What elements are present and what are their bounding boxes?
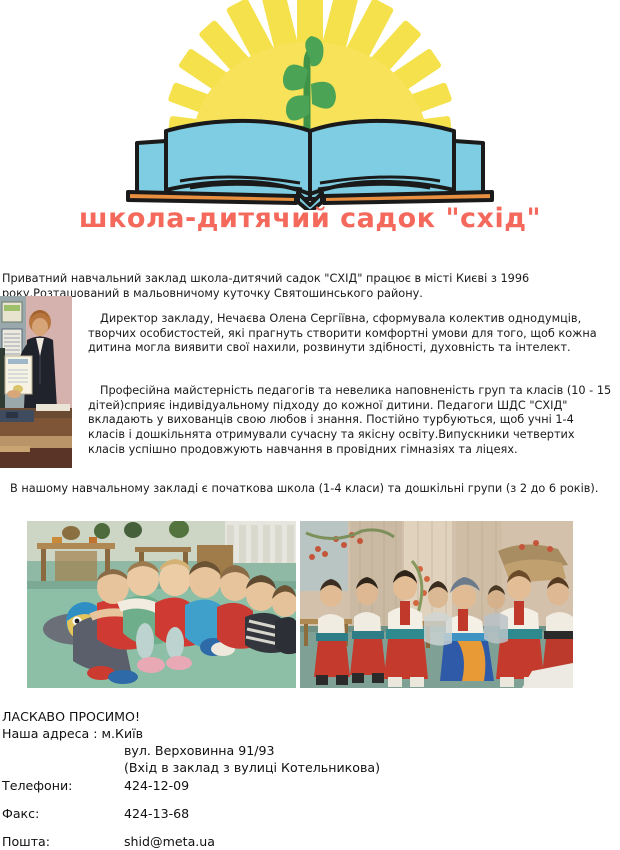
fax-value[interactable]: 424-13-68 xyxy=(124,806,189,821)
open-book-icon xyxy=(128,121,492,210)
address-line: Наша адреса : м.Київ xyxy=(2,725,618,742)
director-photo-image xyxy=(0,296,72,468)
children-on-floor-image xyxy=(27,521,296,688)
welcome-line: ЛАСКАВО ПРОСИМО! xyxy=(2,708,618,725)
address-city: м.Київ xyxy=(102,726,144,741)
phone-value[interactable]: 424-12-09 xyxy=(124,778,189,793)
address-street-line: вул. Верховинна 91/93 xyxy=(2,742,618,759)
fax-label: Факс: xyxy=(2,805,124,822)
director-photo xyxy=(0,296,72,468)
contact-info: ЛАСКАВО ПРОСИМО! Наша адреса : м.Київ ву… xyxy=(2,708,618,850)
director-paragraph: Директор закладу, Нечаєва Олена Сергіївн… xyxy=(88,312,614,356)
folk-dance-photo xyxy=(300,521,573,688)
photo-gallery xyxy=(27,521,573,688)
children-on-floor-photo xyxy=(27,521,296,688)
logo-wordmark-text: школа-дитячий садок "схід" xyxy=(0,203,620,234)
fax-row: Факс:424-13-68 xyxy=(2,805,618,822)
mail-value[interactable]: shid@meta.ua xyxy=(124,834,215,849)
phone-row: Телефони:424-12-09 xyxy=(2,777,618,794)
folk-dance-image xyxy=(300,521,573,688)
logo-illustration xyxy=(0,0,620,210)
mail-label: Пошта: xyxy=(2,833,124,850)
mail-row: Пошта:shid@meta.ua xyxy=(2,833,618,850)
address-note-line: (Вхід в заклад з вулиці Котельникова) xyxy=(2,759,618,776)
phone-label: Телефони: xyxy=(2,777,124,794)
teachers-paragraph: Професійна майстерність педагогів та нев… xyxy=(88,384,614,457)
intro-paragraph: Приватний навчальний заклад школа-дитячи… xyxy=(2,272,616,301)
school-paragraph: В нашому навчальному закладі є початкова… xyxy=(2,482,616,497)
address-label: Наша адреса : xyxy=(2,726,102,741)
school-logo-banner: школа-дитячий садок "схід" xyxy=(0,0,620,256)
